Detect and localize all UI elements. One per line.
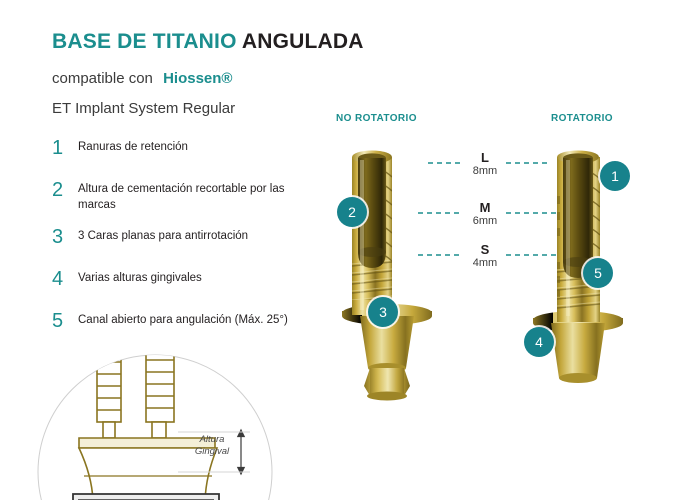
- feature-text: 3 Caras planas para antirrotación: [78, 229, 320, 245]
- altura-gingival-line2: Gingival: [195, 446, 229, 457]
- list-item: 4 Varias alturas gingivales: [52, 271, 320, 297]
- callout-badge-4: 4: [524, 327, 554, 357]
- feature-number: 4: [52, 268, 72, 290]
- compatibility-line: compatible con Hiossen®: [52, 70, 232, 87]
- size-letter: S: [455, 243, 515, 257]
- callout-badge-3: 3: [368, 297, 398, 327]
- compatible-prefix: compatible con: [52, 70, 153, 87]
- size-value: 8mm: [455, 165, 515, 178]
- page-title-primary: BASE DE TITANIO: [52, 30, 237, 53]
- size-label-l: L 8mm: [455, 151, 515, 178]
- diagram-header-rotatorio: ROTATORIO: [551, 113, 613, 124]
- list-item: 3 3 Caras planas para antirrotación: [52, 229, 320, 255]
- feature-text: Ranuras de retención: [78, 140, 320, 156]
- feature-text: Canal abierto para angulación (Máx. 25°): [78, 313, 320, 329]
- callout-badge-2: 2: [337, 197, 367, 227]
- product-sheet: BASE DE TITANIO ANGULADA compatible con …: [0, 0, 700, 500]
- feature-text: Varias alturas gingivales: [78, 271, 320, 287]
- altura-gingival-label: Altura Gingival: [186, 434, 238, 458]
- callout-badge-1: 1: [600, 161, 630, 191]
- feature-list: 1 Ranuras de retención 2 Altura de cemen…: [52, 140, 320, 355]
- feature-number: 3: [52, 226, 72, 248]
- implant-left-no-rotatorio: [342, 151, 432, 401]
- implant-system-line: ET Implant System Regular: [52, 100, 235, 117]
- diagram-header-no-rotatorio: NO ROTATORIO: [336, 113, 417, 124]
- list-item: 2 Altura de cementación recortable por l…: [52, 182, 320, 213]
- size-letter: L: [455, 151, 515, 165]
- altura-gingival-line1: Altura: [200, 434, 225, 445]
- brand-name: Hiossen®: [163, 70, 232, 87]
- feature-number: 1: [52, 137, 72, 159]
- feature-number: 5: [52, 310, 72, 332]
- callout-badge-5: 5: [583, 258, 613, 288]
- size-label-m: M 6mm: [455, 201, 515, 228]
- size-letter: M: [455, 201, 515, 215]
- size-label-s: S 4mm: [455, 243, 515, 270]
- list-item: 1 Ranuras de retención: [52, 140, 320, 166]
- size-value: 6mm: [455, 215, 515, 228]
- altura-gingival-dimension: [238, 430, 244, 474]
- page-title: BASE DE TITANIO ANGULADA: [52, 30, 364, 54]
- size-value: 4mm: [455, 257, 515, 270]
- feature-number: 2: [52, 179, 72, 201]
- feature-text: Altura de cementación recortable por las…: [78, 182, 320, 213]
- list-item: 5 Canal abierto para angulación (Máx. 25…: [52, 313, 320, 339]
- inset-detail-diagram: [38, 336, 272, 500]
- page-title-secondary: ANGULADA: [242, 30, 364, 53]
